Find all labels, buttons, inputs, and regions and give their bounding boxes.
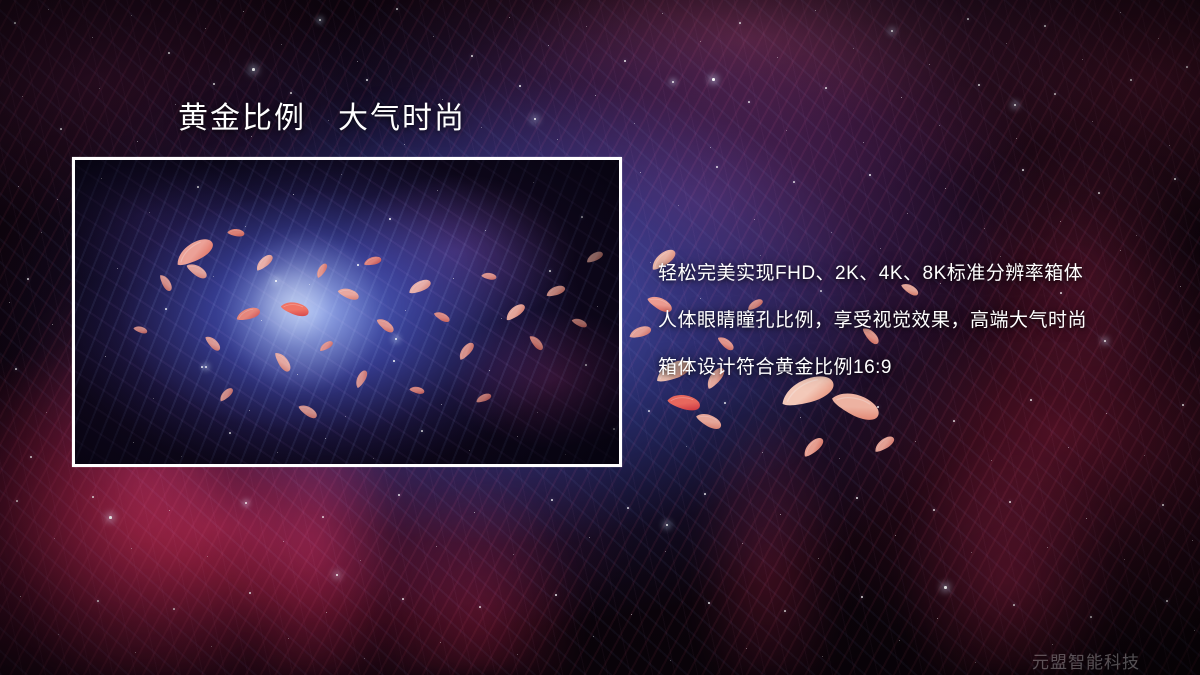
rose-petal — [827, 382, 885, 428]
feature-line-3: 箱体设计符合黄金比例16:9 — [658, 352, 1087, 379]
feature-line-1: 轻松完美实现FHD、2K、4K、8K标准分辨率箱体 — [658, 258, 1087, 285]
rose-petal — [627, 323, 653, 341]
rose-petal — [691, 407, 727, 434]
brand-watermark: 元盟智能科技 — [1032, 648, 1140, 673]
page-title: 黄金比例 大气时尚 — [178, 102, 466, 135]
rose-petal — [871, 433, 898, 456]
rose-petal — [799, 433, 828, 460]
presentation-slide: 黄金比例 大气时尚 轻松完美实现FHD、2K、4K、8K标准分辨率箱体 人体眼睛… — [0, 0, 1200, 675]
rose-petal — [665, 390, 704, 415]
feature-description: 轻松完美实现FHD、2K、4K、8K标准分辨率箱体 人体眼睛瞳孔比例，享受视觉效… — [658, 258, 1087, 379]
feature-line-2: 人体眼睛瞳孔比例，享受视觉效果，高端大气时尚 — [658, 305, 1087, 332]
frame-vignette — [75, 160, 619, 464]
display-cabinet-preview-frame[interactable] — [72, 157, 622, 467]
